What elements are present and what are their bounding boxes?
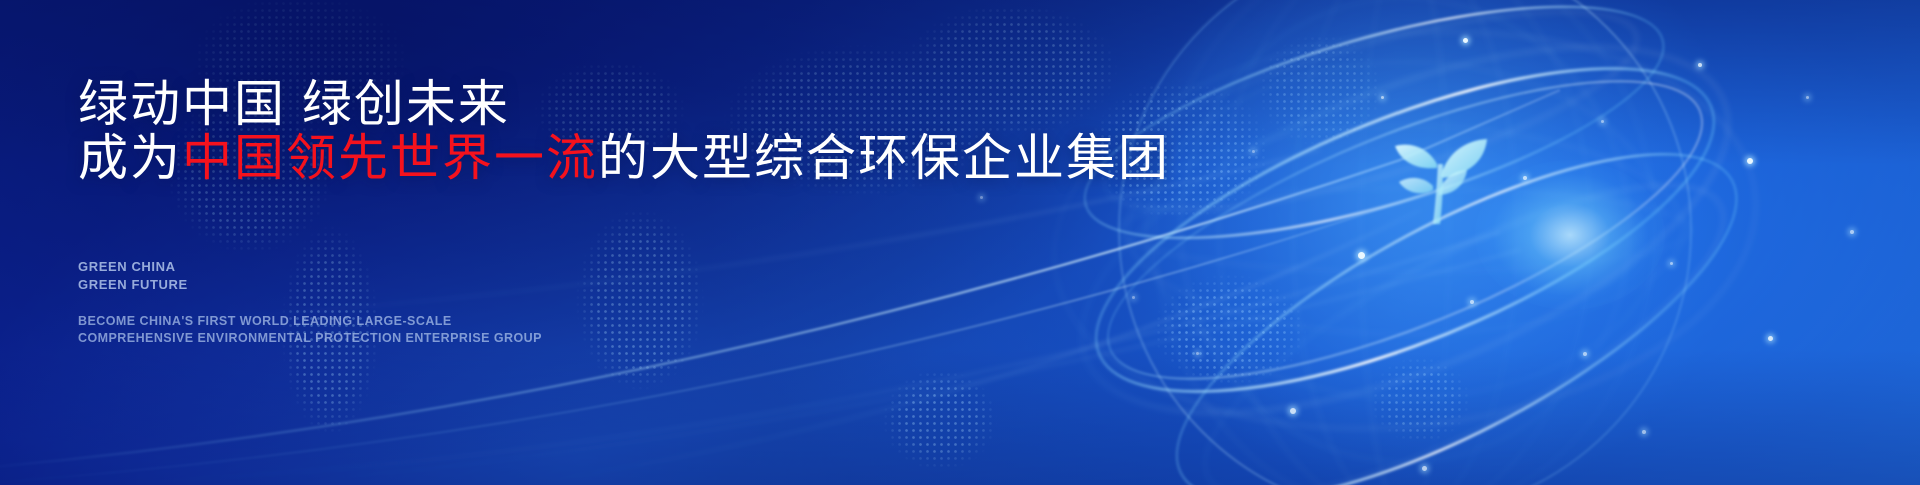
tagline-block: GREEN CHINA GREEN FUTURE	[78, 258, 188, 295]
tagline-line-2: GREEN FUTURE	[78, 276, 188, 294]
headline-prefix: 成为	[78, 130, 182, 186]
tagline-line-1: GREEN CHINA	[78, 258, 188, 276]
subcopy-line-1: BECOME CHINA'S FIRST WORLD LEADING LARGE…	[78, 313, 542, 330]
headline-suffix: 的大型综合环保企业集团	[598, 130, 1170, 186]
headline-accent: 中国领先世界一流	[182, 130, 598, 186]
headline-line-2: 成为中国领先世界一流的大型综合环保企业集团	[78, 132, 1170, 185]
banner-copy: 绿动中国 绿创未来 成为中国领先世界一流的大型综合环保企业集团 GREEN CH…	[78, 0, 1078, 485]
subcopy-block: BECOME CHINA'S FIRST WORLD LEADING LARGE…	[78, 313, 542, 348]
headline-line-1: 绿动中国 绿创未来	[78, 78, 510, 131]
subcopy-line-2: COMPREHENSIVE ENVIRONMENTAL PROTECTION E…	[78, 330, 542, 347]
hero-banner: 绿动中国 绿创未来 成为中国领先世界一流的大型综合环保企业集团 GREEN CH…	[0, 0, 1920, 485]
